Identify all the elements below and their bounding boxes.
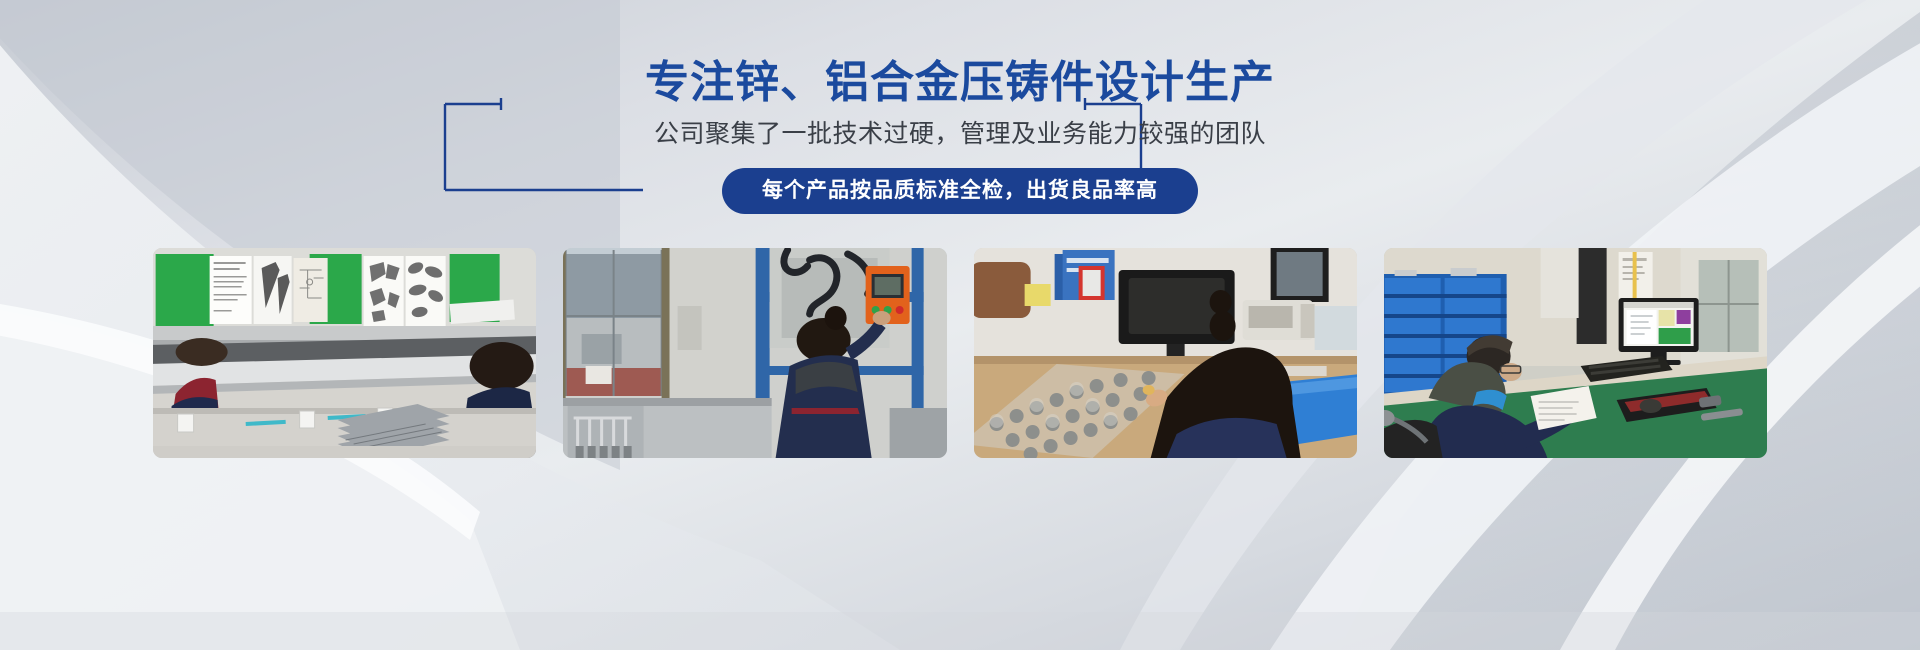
photo-die-casting-machine: [563, 248, 946, 458]
photo-assembly-bench: [153, 248, 536, 458]
banner-subtitle: 公司聚集了一批技术过硬，管理及业务能力较强的团队: [0, 118, 1920, 151]
company-banner: 专注锌、铝合金压铸件设计生产 公司聚集了一批技术过硬，管理及业务能力较强的团队 …: [0, 0, 1920, 650]
photo-quality-inspection: [974, 248, 1357, 458]
quality-badge: 每个产品按品质标准全检，出货良品率高: [722, 168, 1198, 214]
factory-photo-gallery: [153, 248, 1767, 458]
pill-container: 每个产品按品质标准全检，出货良品率高: [0, 168, 1920, 214]
page-title: 专注锌、铝合金压铸件设计生产: [0, 58, 1920, 107]
photo-office-workstation: [1384, 248, 1767, 458]
